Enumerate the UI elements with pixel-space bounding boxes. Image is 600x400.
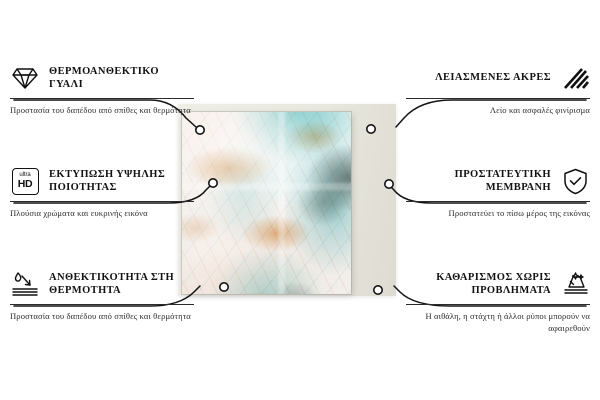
feature-title: ΛΕΙΑΣΜΕΝΕΣ ΑΚΡΕΣ — [406, 71, 551, 84]
ultra-hd-badge: ultra HD — [12, 168, 39, 195]
product-glass-panel — [182, 112, 351, 294]
infographic-canvas: ΘΕΡΜΟΑΝΘΕΚΤΙΚΟ ΓΥΑΛΙ Προστασία του δαπέδ… — [0, 0, 600, 400]
diagonal-stripes-icon — [560, 63, 590, 93]
feature-header: ultra HD ΕΚΤΥΠΩΣΗ ΥΨΗΛΗΣ ΠΟΙΟΤΗΤΑΣ — [10, 165, 194, 197]
feature-divider — [406, 201, 590, 202]
feature-description: Προστατεύει το πίσω μέρος της εικόνας — [406, 207, 590, 219]
feature-block-high-quality-print: ultra HD ΕΚΤΥΠΩΣΗ ΥΨΗΛΗΣ ΠΟΙΟΤΗΤΑΣ Πλούσ… — [10, 165, 194, 219]
feature-block-polished-edges: ΛΕΙΑΣΜΕΝΕΣ ΑΚΡΕΣ Λείο και ασφαλές φινίρι… — [406, 62, 590, 116]
feature-divider — [406, 98, 590, 99]
feature-header: ΛΕΙΑΣΜΕΝΕΣ ΑΚΡΕΣ — [406, 62, 590, 94]
feature-header: ΑΝΘΕΚΤΙΚΟΤΗΤΑ ΣΤΗ ΘΕΡΜΟΤΗΤΑ — [10, 268, 194, 300]
feature-description: Λείο και ασφαλές φινίρισμα — [406, 104, 590, 116]
feature-divider — [10, 201, 194, 202]
ultra-hd-bottom-label: HD — [18, 179, 33, 190]
feature-description: Προστασία του δαπέδου από σπίθες και θερ… — [10, 310, 194, 322]
shield-check-icon — [560, 166, 590, 196]
feature-description: Η αιθάλη, η στάχτη ή άλλοι ρύποι μπορούν… — [406, 310, 590, 334]
sponge-sparkle-icon — [560, 269, 590, 299]
feature-divider — [406, 304, 590, 305]
diamond-icon — [10, 63, 40, 93]
feature-divider — [10, 98, 194, 99]
feature-title: ΕΚΤΥΠΩΣΗ ΥΨΗΛΗΣ ΠΟΙΟΤΗΤΑΣ — [49, 168, 194, 194]
feature-block-heat-durability: ΑΝΘΕΚΤΙΚΟΤΗΤΑ ΣΤΗ ΘΕΡΜΟΤΗΤΑ Προστασία το… — [10, 268, 194, 322]
feature-block-heat-resistant-glass: ΘΕΡΜΟΑΝΘΕΚΤΙΚΟ ΓΥΑΛΙ Προστασία του δαπέδ… — [10, 62, 194, 116]
feature-header: ΠΡΟΣΤΑΤΕΥΤΙΚΗ ΜΕΜΒΡΑΝΗ — [406, 165, 590, 197]
feature-title: ΚΑΘΑΡΙΣΜΟΣ ΧΩΡΙΣ ΠΡΟΒΛΗΜΑΤΑ — [406, 271, 551, 297]
flame-arrow-icon — [10, 269, 40, 299]
product-image — [178, 104, 396, 296]
feature-header: ΚΑΘΑΡΙΣΜΟΣ ΧΩΡΙΣ ΠΡΟΒΛΗΜΑΤΑ — [406, 268, 590, 300]
ultra-hd-icon: ultra HD — [10, 166, 40, 196]
feature-block-easy-cleaning: ΚΑΘΑΡΙΣΜΟΣ ΧΩΡΙΣ ΠΡΟΒΛΗΜΑΤΑ Η αιθάλη, η … — [406, 268, 590, 334]
feature-divider — [10, 304, 194, 305]
feature-title: ΠΡΟΣΤΑΤΕΥΤΙΚΗ ΜΕΜΒΡΑΝΗ — [406, 168, 551, 194]
feature-block-protective-membrane: ΠΡΟΣΤΑΤΕΥΤΙΚΗ ΜΕΜΒΡΑΝΗ Προστατεύει το πί… — [406, 165, 590, 219]
feature-description: Προστασία του δαπέδου από σπίθες και θερ… — [10, 104, 194, 116]
feature-header: ΘΕΡΜΟΑΝΘΕΚΤΙΚΟ ΓΥΑΛΙ — [10, 62, 194, 94]
feature-title: ΘΕΡΜΟΑΝΘΕΚΤΙΚΟ ΓΥΑΛΙ — [49, 65, 194, 91]
artwork-haze-layer — [182, 112, 351, 294]
feature-title: ΑΝΘΕΚΤΙΚΟΤΗΤΑ ΣΤΗ ΘΕΡΜΟΤΗΤΑ — [49, 271, 194, 297]
feature-description: Πλούσια χρώματα και ευκρινής εικόνα — [10, 207, 194, 219]
